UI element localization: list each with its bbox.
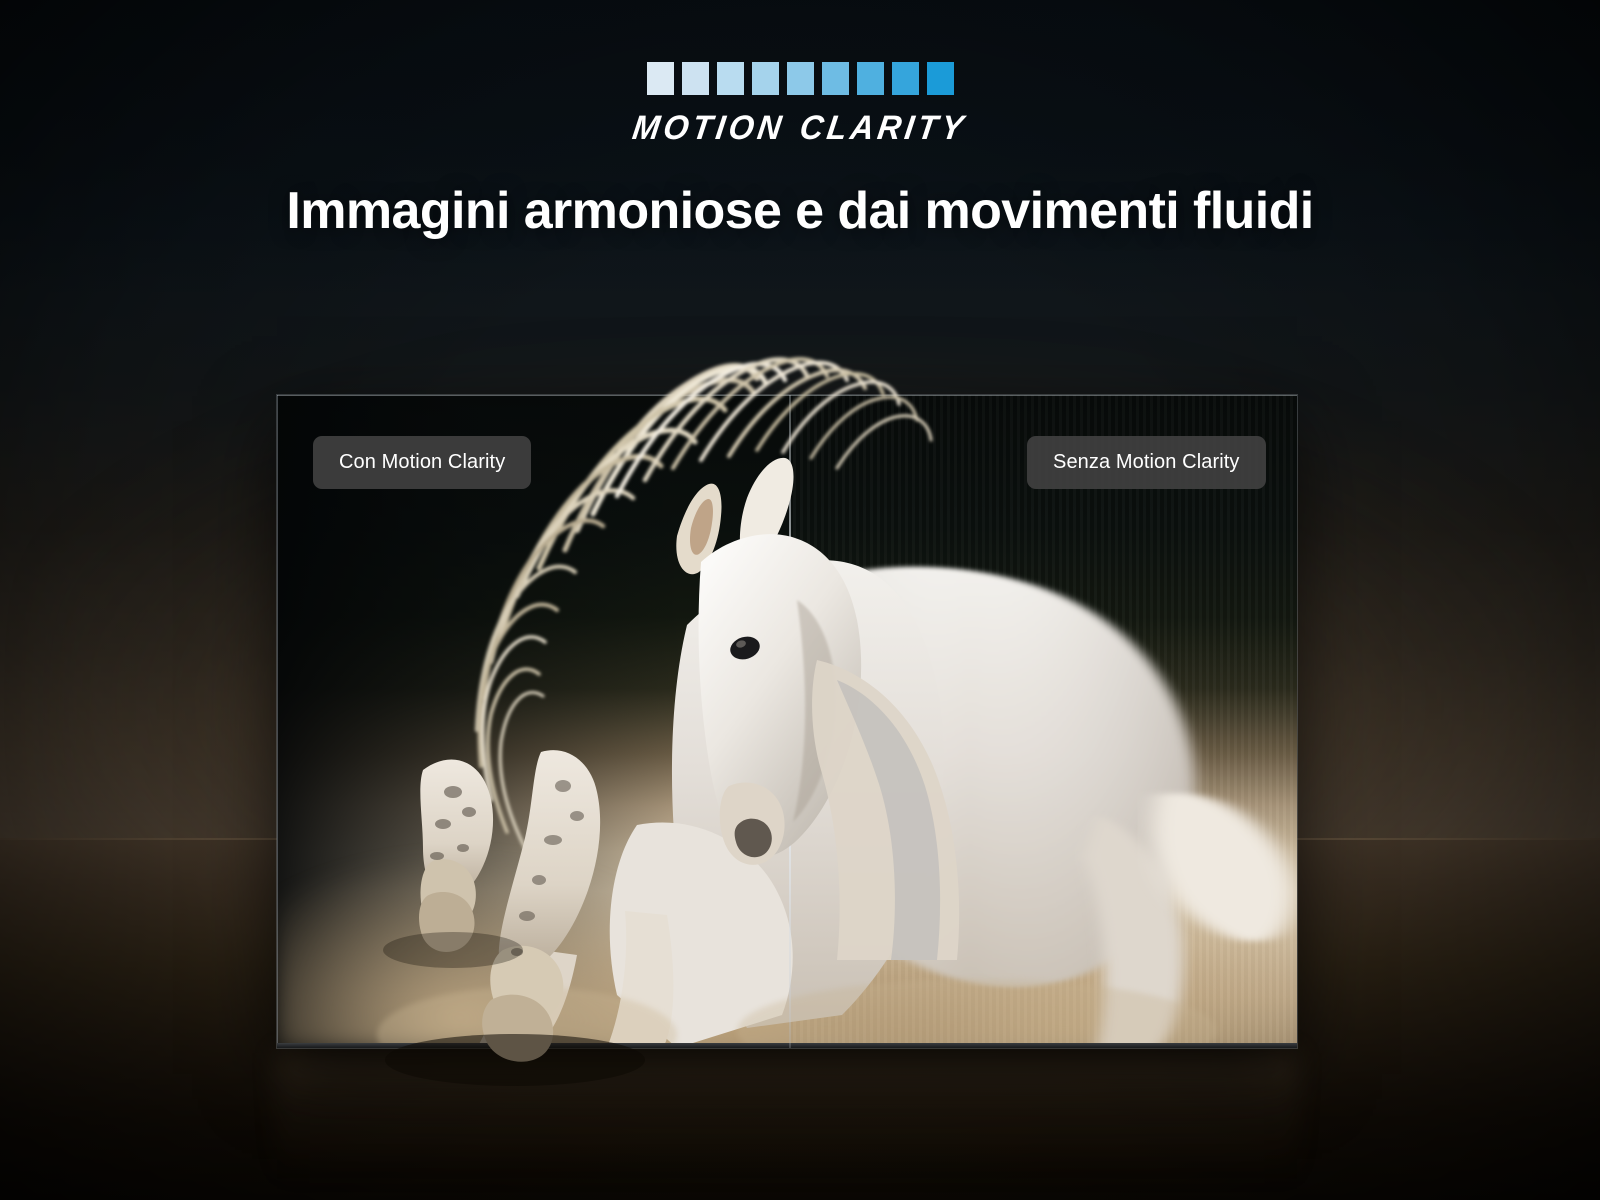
- panel-bezel-top: [277, 395, 1297, 396]
- panel-bezel-bottom: [277, 1043, 1297, 1048]
- logo-bar-1: [647, 62, 674, 95]
- tv-comparison-panel: [277, 395, 1297, 1048]
- logo-word-clarity: CLARITY: [798, 109, 970, 147]
- logo-gradient-bars-icon: [647, 62, 954, 95]
- panel-bezel-left: [277, 395, 278, 1048]
- logo-bar-6: [822, 62, 849, 95]
- page-title: Immagini armoniose e dai movimenti fluid…: [0, 181, 1600, 241]
- badge-con-motion-clarity[interactable]: Con Motion Clarity: [313, 436, 531, 489]
- panel-reflection: [277, 1053, 1297, 1183]
- comparison-divider: [789, 395, 791, 1048]
- logo-bar-7: [857, 62, 884, 95]
- horse-body-inside-panel: [277, 395, 1297, 1048]
- scene-stage: MOTIONCLARITY Immagini armoniose e dai m…: [0, 0, 1600, 1200]
- logo-bar-3: [717, 62, 744, 95]
- logo-bar-4: [752, 62, 779, 95]
- logo-word-motion: MOTION: [631, 109, 788, 147]
- logo-bar-2: [682, 62, 709, 95]
- logo-bar-9: [927, 62, 954, 95]
- logo-wordmark: MOTIONCLARITY: [630, 109, 969, 148]
- badge-senza-motion-clarity[interactable]: Senza Motion Clarity: [1027, 436, 1266, 489]
- logo-bar-5: [787, 62, 814, 95]
- motion-clarity-logo: MOTIONCLARITY: [0, 62, 1600, 148]
- logo-bar-8: [892, 62, 919, 95]
